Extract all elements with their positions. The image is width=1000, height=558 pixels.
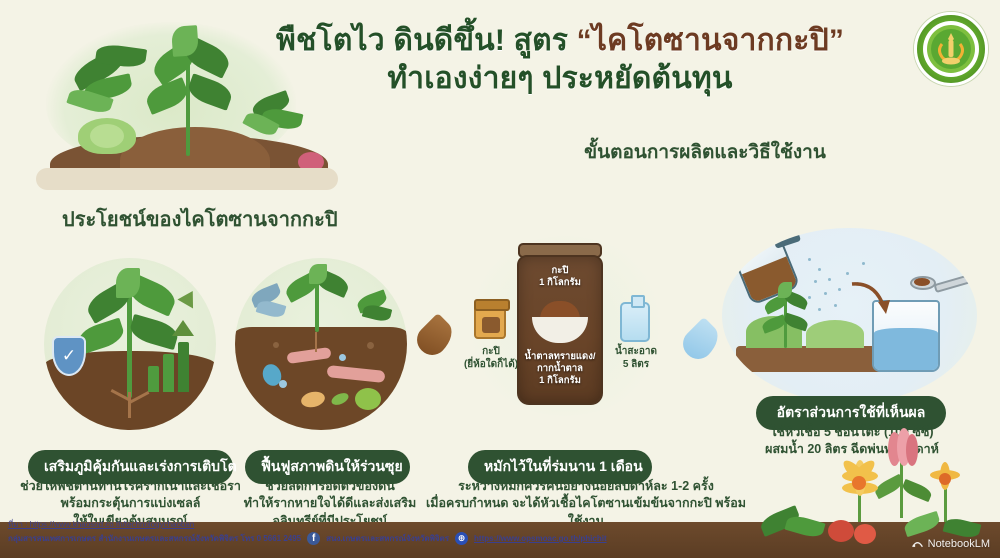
microbe-icon: [355, 388, 381, 410]
ferment-note-line1: ระหว่างหมักควรคนอย่างน้อยสัปดาห์ละ 1-2 ค…: [458, 479, 714, 493]
watermark-text: NotebookLM: [928, 538, 990, 550]
growth-bar: [148, 366, 159, 392]
root: [128, 392, 131, 418]
footer: ที่มา : https://www.khaosod.co.th/techno…: [0, 518, 1000, 558]
jar-top-line1: กะปิ: [552, 265, 569, 276]
ingredient-right-line2: 5 ลิตร: [623, 359, 649, 370]
microbe-dot: [279, 380, 287, 388]
facebook-page-name: สนง.เกษตรและสหกรณ์จังหวัดพิจิตร: [326, 532, 449, 545]
ingredient-left-line2: (ยี่ห้อใดก็ได้): [464, 359, 518, 370]
globe-icon[interactable]: ⊕: [455, 532, 468, 545]
website-link[interactable]: https://www.opsmoac.go.th/phichit: [474, 534, 607, 543]
facebook-icon[interactable]: f: [307, 532, 320, 545]
usage-note: ใช้หัวเชื้อ 5 ช้อนโต๊ะ (100 ซีซี) ผสมน้ำ…: [746, 424, 958, 459]
jar-bottom-text: น้ำตาลทรายแดง/ กากน้ำตาล 1 กิโลกรัม: [519, 351, 601, 387]
water-droplet-icon: [677, 317, 725, 365]
benefit-desc-1-line1: ช่วยให้พืชต้านทานโรครากเน่าและเชื้อรา: [20, 479, 241, 493]
spoon-contents: [914, 278, 930, 286]
growth-arrow-icon: [172, 320, 194, 336]
spray-nozzle: [773, 230, 801, 248]
org-info-line: กลุ่มสารสนเทศการเกษตร สำนักงานเกษตรและสห…: [8, 532, 607, 545]
seal-emblem-icon: [922, 20, 980, 78]
soil-pebble: [273, 342, 279, 348]
plant-stem: [127, 288, 132, 398]
notebooklm-watermark: NotebookLM: [911, 537, 990, 550]
growth-bar: [163, 354, 174, 392]
growth-arrow-icon: [177, 287, 200, 309]
source-link[interactable]: ที่มา : https://www.khaosod.co.th/techno…: [8, 518, 194, 531]
lettuce-core: [90, 124, 124, 148]
leaf-icon: [116, 268, 140, 298]
usage-illustration: [722, 228, 977, 403]
growth-bar: [178, 342, 189, 392]
benefits-heading: ประโยชน์ของไคโตซานจากกะปิ: [62, 203, 338, 235]
page-title: พืชโตไว ดินดีขึ้น! สูตร “ไคโตซานจากกะปิ”…: [245, 22, 875, 99]
jar-top-text: กะปิ 1 กิโลกรัม: [519, 265, 601, 289]
clean-water-bottle-icon: [620, 302, 650, 342]
benefit-illustration-2: [235, 258, 407, 430]
jar-bottom-line1: น้ำตาลทรายแดง/: [525, 351, 596, 362]
shrimp-paste-jar-icon: [474, 305, 506, 339]
jar-bottom-line2: กากน้ำตาล: [537, 363, 583, 374]
ingredient-right-line1: น้ำสะอาด: [615, 346, 657, 357]
page-subtitle: ขั้นตอนการผลิตและวิธีใช้งาน: [540, 137, 870, 167]
title-line2: ทำเองง่ายๆ ประหยัดต้นทุน: [387, 62, 732, 95]
benefit-illustration-1: ✓: [44, 258, 216, 430]
plant-stem: [315, 280, 319, 332]
title-line1-highlight: “ไคโตซานจากกะปิ”: [577, 24, 844, 57]
fermentation-jar: กะปิ 1 กิโลกรัม น้ำตาลทรายแดง/ กากน้ำตาล…: [517, 255, 603, 405]
notebooklm-logo-icon: [911, 537, 924, 550]
jar-top-line2: 1 กิโลกรัม: [539, 277, 581, 288]
leaf-icon: [778, 282, 792, 298]
ministry-logo: [914, 12, 988, 86]
leaf-icon: [256, 298, 287, 319]
bush-icon: [806, 320, 864, 348]
benefit-desc-2-line2: ทำให้รากหายใจได้ดีและส่งเสริม: [244, 496, 416, 510]
leaf-icon: [362, 303, 393, 323]
soil-pebble: [367, 342, 374, 349]
benefit-desc-2-line1: ช่วยลดการอัดตัวของดิน: [265, 479, 395, 493]
garden-bed: [736, 346, 886, 372]
plant-stem: [186, 60, 190, 156]
chitosan-droplet-icon: [411, 313, 459, 361]
jar-bottom-line3: 1 กิโลกรัม: [539, 375, 581, 386]
org-name: กลุ่มสารสนเทศการเกษตร สำนักงานเกษตรและสห…: [8, 532, 301, 545]
ingredient-right-label: น้ำสะอาด 5 ลิตร: [606, 345, 666, 371]
leaf-icon: [309, 264, 327, 284]
ingredient-left-line1: กะปิ: [482, 346, 500, 357]
garden-shelf: [36, 168, 338, 190]
pour-arrow-icon: [850, 280, 900, 320]
microbe-dot: [339, 354, 346, 361]
bowl-icon: [532, 317, 588, 343]
bucket-water: [874, 328, 938, 370]
title-line1-plain: พืชโตไว ดินดีขึ้น! สูตร: [276, 24, 577, 57]
benefit-desc-1-line2: พร้อมกระตุ้นการแบ่งเซลล์: [61, 496, 201, 510]
root: [315, 332, 317, 352]
infographic-poster: พืชโตไว ดินดีขึ้น! สูตร “ไคโตซานจากกะปิ”…: [0, 0, 1000, 558]
